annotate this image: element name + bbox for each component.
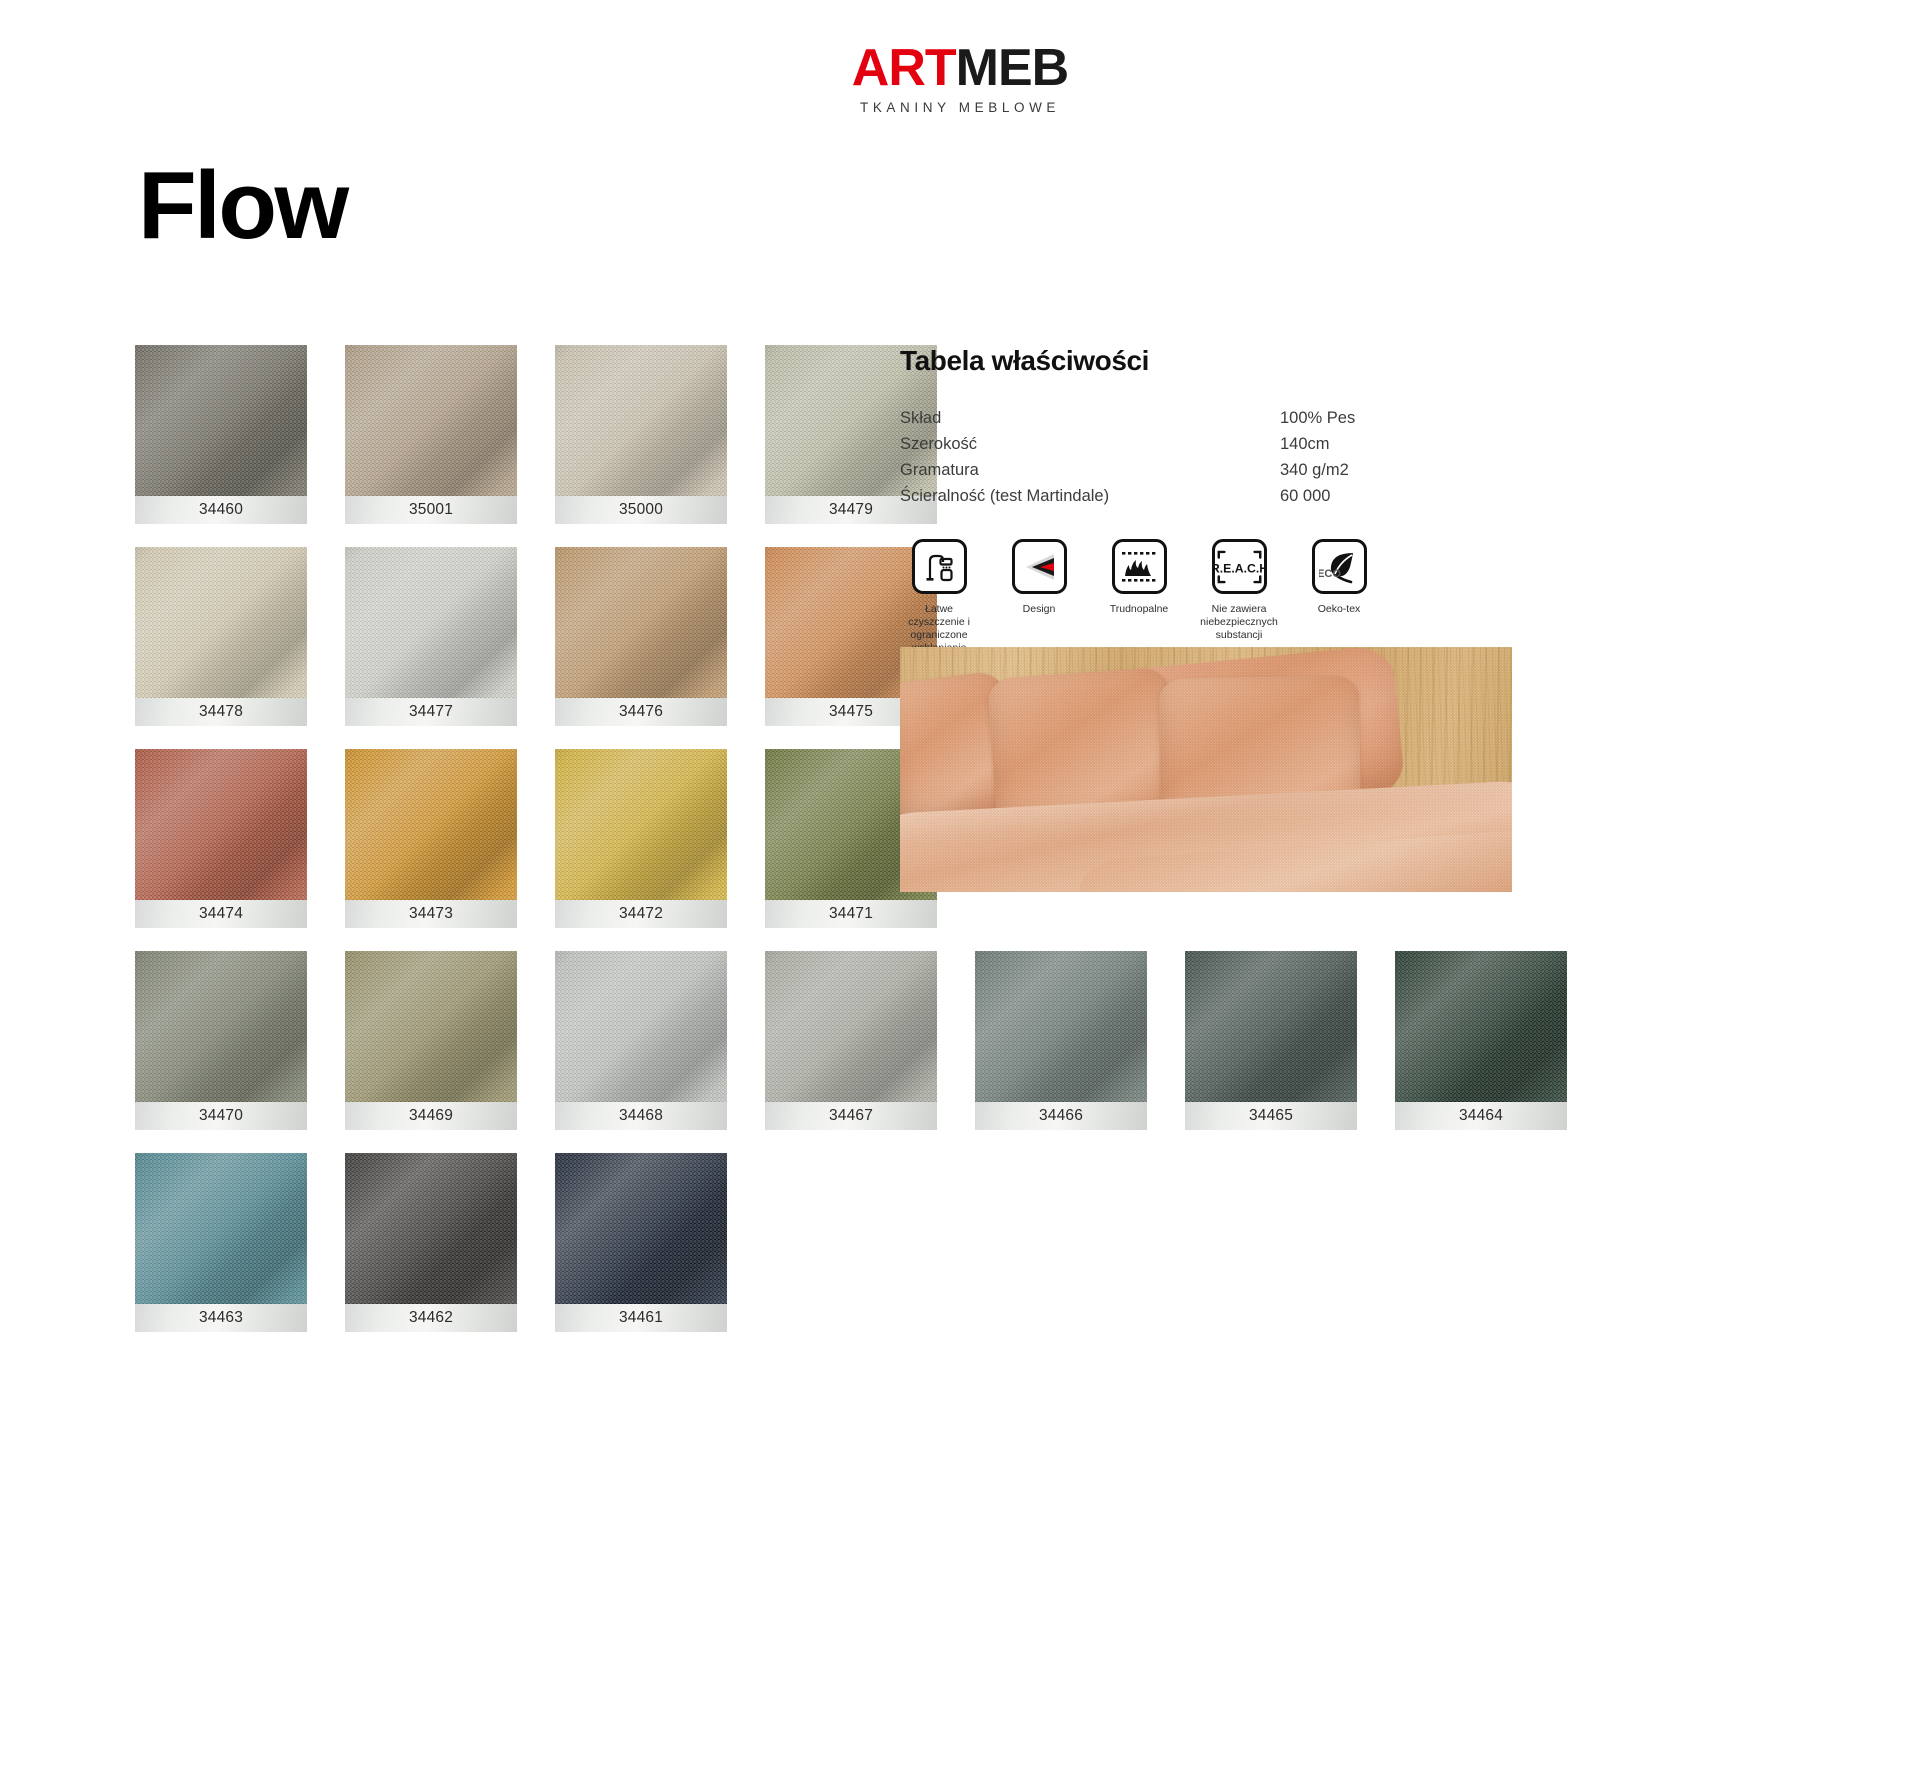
fabric-swatch-image [345, 749, 517, 900]
specification-key: Szerokość [900, 431, 1280, 457]
brand-logo: ARTMEB TKANINY MEBLOWE [0, 42, 1920, 115]
fabric-swatch[interactable]: 34460 [135, 345, 307, 524]
fabric-code-label: 34467 [765, 1102, 937, 1130]
fabric-swatch-image [555, 547, 727, 698]
fabric-code-label: 34472 [555, 900, 727, 928]
fabric-code-label: 34473 [345, 900, 517, 928]
certification-label: Oeko-tex [1296, 603, 1382, 616]
fabric-weave-texture [555, 547, 727, 698]
fabric-swatch[interactable]: 34476 [555, 547, 727, 726]
specification-value: 140cm [1280, 431, 1455, 457]
fabric-swatch[interactable]: 34464 [1395, 951, 1567, 1130]
fabric-swatch[interactable]: 34469 [345, 951, 517, 1130]
fabric-swatch-image [555, 749, 727, 900]
sofa-upholstery-photo [900, 647, 1512, 892]
fabric-swatch-image [555, 1153, 727, 1304]
fabric-weave-texture [135, 345, 307, 496]
swatch-row: 344633446234461 [135, 1153, 1425, 1332]
fabric-swatch-image [135, 749, 307, 900]
fabric-weave-texture [345, 345, 517, 496]
fabric-swatch[interactable]: 35001 [345, 345, 517, 524]
fabric-swatch-image [1185, 951, 1357, 1102]
fabric-code-label: 34463 [135, 1304, 307, 1332]
fabric-weave-texture [555, 1153, 727, 1304]
fabric-swatch-image [555, 345, 727, 496]
fabric-code-label: 34462 [345, 1304, 517, 1332]
fabric-code-label: 34460 [135, 496, 307, 524]
fabric-code-label: 34474 [135, 900, 307, 928]
specification-key: Gramatura [900, 457, 1280, 483]
fabric-swatch[interactable]: 34466 [975, 951, 1147, 1130]
catalog-page: ARTMEB TKANINY MEBLOWE Flow 344603500135… [0, 0, 1920, 1768]
specification-row: Skład100% Pes [900, 405, 1455, 431]
fabric-swatch[interactable]: 34477 [345, 547, 517, 726]
fabric-swatch[interactable]: 34467 [765, 951, 937, 1130]
fabric-swatch[interactable]: 34474 [135, 749, 307, 928]
swatch-row: 34470344693446834467344663446534464 [135, 951, 1425, 1130]
certification-label: Nie zawiera niebezpiecznych substancji [1196, 603, 1282, 642]
reach-icon: R.E.A.C.H [1212, 539, 1267, 594]
specification-value: 60 000 [1280, 483, 1455, 509]
fabric-code-label: 34477 [345, 698, 517, 726]
fabric-swatch-image [345, 345, 517, 496]
certification-label: Design [996, 603, 1082, 616]
logo-art-text: ART [852, 39, 956, 97]
fabric-weave-texture [345, 1153, 517, 1304]
fabric-swatch[interactable]: 34461 [555, 1153, 727, 1332]
fabric-texture-overlay [900, 647, 1512, 892]
fabric-weave-texture [975, 951, 1147, 1102]
fabric-weave-texture [135, 547, 307, 698]
fabric-swatch-image [1395, 951, 1567, 1102]
flame-retardant-icon [1112, 539, 1167, 594]
fabric-swatch[interactable]: 35000 [555, 345, 727, 524]
properties-title: Tabela właściwości [900, 345, 1540, 377]
fabric-swatch[interactable]: 34478 [135, 547, 307, 726]
design-icon [1012, 539, 1067, 594]
fabric-weave-texture [555, 951, 727, 1102]
fabric-swatch-image [555, 951, 727, 1102]
specification-row: Ścieralność (test Martindale)60 000 [900, 483, 1455, 509]
fabric-swatch[interactable]: 34465 [1185, 951, 1357, 1130]
fabric-swatch-image [135, 1153, 307, 1304]
fabric-swatch-image [135, 547, 307, 698]
fabric-code-label: 34465 [1185, 1102, 1357, 1130]
logo-tagline: TKANINY MEBLOWE [860, 100, 1060, 115]
fabric-code-label: 34466 [975, 1102, 1147, 1130]
fabric-weave-texture [1395, 951, 1567, 1102]
fabric-swatch[interactable]: 34472 [555, 749, 727, 928]
fabric-swatch-image [135, 951, 307, 1102]
fabric-weave-texture [135, 749, 307, 900]
fabric-code-label: 34471 [765, 900, 937, 928]
specification-key: Skład [900, 405, 1280, 431]
fabric-weave-texture [345, 749, 517, 900]
fabric-swatch-image [975, 951, 1147, 1102]
fabric-code-label: 34468 [555, 1102, 727, 1130]
specification-row: Szerokość140cm [900, 431, 1455, 457]
logo-meb-text: MEB [956, 39, 1069, 97]
fabric-swatch-image [765, 951, 937, 1102]
svg-text:ECO: ECO [1319, 568, 1341, 580]
logo-wordmark: ARTMEB [852, 42, 1068, 94]
fabric-swatch[interactable]: 34462 [345, 1153, 517, 1332]
fabric-code-label: 34461 [555, 1304, 727, 1332]
specification-key: Ścieralność (test Martindale) [900, 483, 1280, 509]
fabric-weave-texture [1185, 951, 1357, 1102]
fabric-code-label: 34478 [135, 698, 307, 726]
fabric-weave-texture [345, 951, 517, 1102]
fabric-code-label: 34469 [345, 1102, 517, 1130]
fabric-swatch-image [345, 951, 517, 1102]
svg-text:R.E.A.C.H: R.E.A.C.H [1215, 561, 1264, 575]
fabric-weave-texture [135, 951, 307, 1102]
fabric-weave-texture [135, 1153, 307, 1304]
fabric-weave-texture [345, 547, 517, 698]
fabric-weave-texture [555, 749, 727, 900]
fabric-swatch-image [135, 345, 307, 496]
fabric-swatch-image [345, 1153, 517, 1304]
eco-leaf-icon: ECO [1312, 539, 1367, 594]
fabric-swatch[interactable]: 34468 [555, 951, 727, 1130]
fabric-code-label: 34476 [555, 698, 727, 726]
specification-value: 340 g/m2 [1280, 457, 1455, 483]
fabric-weave-texture [765, 951, 937, 1102]
specification-value: 100% Pes [1280, 405, 1455, 431]
certification-label: Trudnopalne [1096, 603, 1182, 616]
fabric-code-label: 35000 [555, 496, 727, 524]
page-title: Flow [138, 158, 347, 254]
fabric-code-label: 34464 [1395, 1102, 1567, 1130]
fabric-swatch[interactable]: 34473 [345, 749, 517, 928]
fabric-code-label: 35001 [345, 496, 517, 524]
fabric-weave-texture [555, 345, 727, 496]
fabric-swatch[interactable]: 34470 [135, 951, 307, 1130]
fabric-swatch-image [345, 547, 517, 698]
easy-clean-icon [912, 539, 967, 594]
fabric-swatch[interactable]: 34463 [135, 1153, 307, 1332]
specification-row: Gramatura340 g/m2 [900, 457, 1455, 483]
specification-table: Skład100% PesSzerokość140cmGramatura340 … [900, 405, 1455, 509]
fabric-code-label: 34470 [135, 1102, 307, 1130]
